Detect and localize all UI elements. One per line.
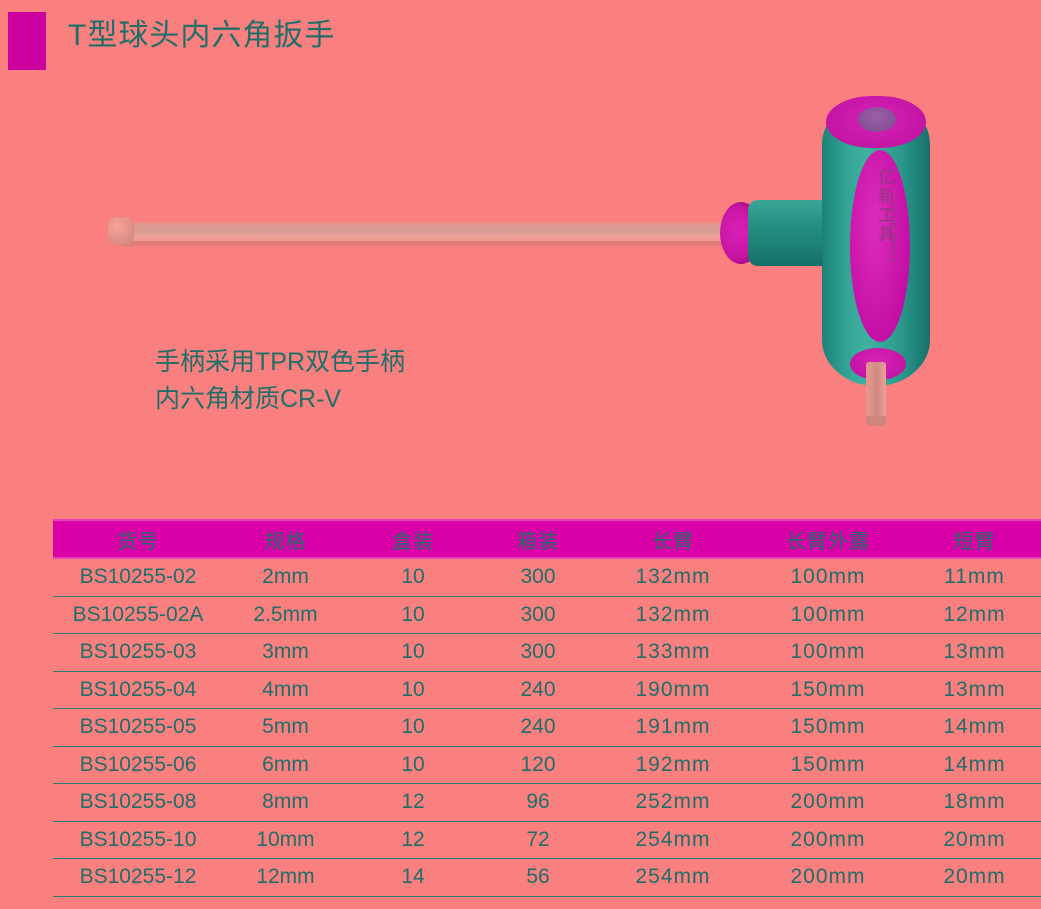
cell-long-arm: 190mm: [598, 678, 748, 702]
cell-carton-qty: 56: [478, 865, 598, 889]
cell-short-arm: 12mm: [908, 603, 1041, 627]
cell-item-code: BS10255-05: [53, 715, 223, 739]
column-header-carton-qty: 箱装: [478, 525, 598, 554]
cell-carton-qty: 300: [478, 565, 598, 589]
cell-short-arm: 11mm: [908, 565, 1041, 589]
cell-long-arm: 252mm: [598, 790, 748, 814]
table-row: BS10255-02 2mm 10 300 132mm 100mm 11mm: [53, 559, 1041, 597]
column-header-short-arm: 短臂: [908, 525, 1041, 554]
cell-size: 5mm: [223, 715, 348, 739]
table-row: BS10255-02A 2.5mm 10 300 132mm 100mm 12m…: [53, 597, 1041, 635]
cell-box-qty: 10: [348, 678, 478, 702]
cell-size: 4mm: [223, 678, 348, 702]
specification-table: 货号 规格 盒装 箱装 长臂 长臂外露 短臂 BS10255-02 2mm 10…: [53, 519, 1041, 897]
cell-carton-qty: 72: [478, 828, 598, 852]
cell-carton-qty: 300: [478, 603, 598, 627]
cell-size: 6mm: [223, 753, 348, 777]
cell-carton-qty: 96: [478, 790, 598, 814]
ball-end-tip: [108, 217, 134, 245]
cell-short-arm: 14mm: [908, 753, 1041, 777]
hang-hole: [858, 107, 896, 132]
cell-carton-qty: 240: [478, 678, 598, 702]
cell-long-exposed: 150mm: [748, 715, 908, 739]
cell-box-qty: 10: [348, 753, 478, 777]
cell-long-exposed: 150mm: [748, 678, 908, 702]
cell-box-qty: 10: [348, 640, 478, 664]
title-accent-bar: [8, 12, 46, 70]
cell-size: 2.5mm: [223, 603, 348, 627]
cell-item-code: BS10255-12: [53, 865, 223, 889]
cell-item-code: BS10255-03: [53, 640, 223, 664]
page-title: T型球头内六角扳手: [68, 14, 335, 58]
cell-box-qty: 12: [348, 790, 478, 814]
cell-box-qty: 10: [348, 603, 478, 627]
cell-box-qty: 10: [348, 565, 478, 589]
cell-long-exposed: 100mm: [748, 640, 908, 664]
cell-item-code: BS10255-02: [53, 565, 223, 589]
cell-short-arm: 20mm: [908, 828, 1041, 852]
table-row: BS10255-12 12mm 14 56 254mm 200mm 20mm: [53, 859, 1041, 897]
cell-box-qty: 10: [348, 715, 478, 739]
cell-long-exposed: 200mm: [748, 790, 908, 814]
cell-size: 12mm: [223, 865, 348, 889]
cell-long-exposed: 100mm: [748, 603, 908, 627]
table-row: BS10255-03 3mm 10 300 133mm 100mm 13mm: [53, 634, 1041, 672]
cell-item-code: BS10255-08: [53, 790, 223, 814]
cell-item-code: BS10255-04: [53, 678, 223, 702]
column-header-item-code: 货号: [53, 525, 223, 554]
cell-long-arm: 132mm: [598, 603, 748, 627]
column-header-long-arm: 长臂: [598, 525, 748, 554]
table-header-row: 货号 规格 盒装 箱装 长臂 长臂外露 短臂: [53, 519, 1041, 559]
short-arm-tip: [866, 416, 886, 426]
column-header-long-exposed: 长臂外露: [748, 525, 908, 554]
cell-item-code: BS10255-06: [53, 753, 223, 777]
cell-long-arm: 254mm: [598, 828, 748, 852]
cell-box-qty: 14: [348, 865, 478, 889]
table-row: BS10255-05 5mm 10 240 191mm 150mm 14mm: [53, 709, 1041, 747]
cell-long-arm: 132mm: [598, 565, 748, 589]
short-arm-shaft: [866, 362, 886, 424]
cell-size: 2mm: [223, 565, 348, 589]
cell-size: 10mm: [223, 828, 348, 852]
cell-short-arm: 13mm: [908, 640, 1041, 664]
cell-carton-qty: 300: [478, 640, 598, 664]
feature-line-2: 内六角材质CR-V: [155, 381, 405, 418]
feature-text: 手柄采用TPR双色手柄 内六角材质CR-V: [155, 344, 405, 418]
table-row: BS10255-06 6mm 10 120 192mm 150mm 14mm: [53, 747, 1041, 785]
cell-long-exposed: 100mm: [748, 565, 908, 589]
cell-box-qty: 12: [348, 828, 478, 852]
long-arm-shaft: [118, 222, 758, 241]
cell-carton-qty: 120: [478, 753, 598, 777]
cell-size: 8mm: [223, 790, 348, 814]
column-header-size: 规格: [223, 525, 348, 554]
cell-long-exposed: 200mm: [748, 828, 908, 852]
brand-label-en: YOUR TOOLS: [888, 202, 897, 264]
cell-long-arm: 133mm: [598, 640, 748, 664]
cell-item-code: BS10255-02A: [53, 603, 223, 627]
title-bar: T型球头内六角扳手: [0, 0, 1041, 80]
cell-short-arm: 14mm: [908, 715, 1041, 739]
cell-long-arm: 192mm: [598, 753, 748, 777]
column-header-box-qty: 盒装: [348, 525, 478, 554]
cell-long-exposed: 200mm: [748, 865, 908, 889]
cell-size: 3mm: [223, 640, 348, 664]
cell-item-code: BS10255-10: [53, 828, 223, 852]
cell-long-arm: 191mm: [598, 715, 748, 739]
table-row: BS10255-10 10mm 12 72 254mm 200mm 20mm: [53, 822, 1041, 860]
cell-short-arm: 13mm: [908, 678, 1041, 702]
cell-long-exposed: 150mm: [748, 753, 908, 777]
cell-short-arm: 18mm: [908, 790, 1041, 814]
cell-long-arm: 254mm: [598, 865, 748, 889]
table-row: BS10255-04 4mm 10 240 190mm 150mm 13mm: [53, 672, 1041, 710]
feature-line-1: 手柄采用TPR双色手柄: [155, 344, 405, 381]
cell-carton-qty: 240: [478, 715, 598, 739]
cell-short-arm: 20mm: [908, 865, 1041, 889]
table-row: BS10255-08 8mm 12 96 252mm 200mm 18mm: [53, 784, 1041, 822]
